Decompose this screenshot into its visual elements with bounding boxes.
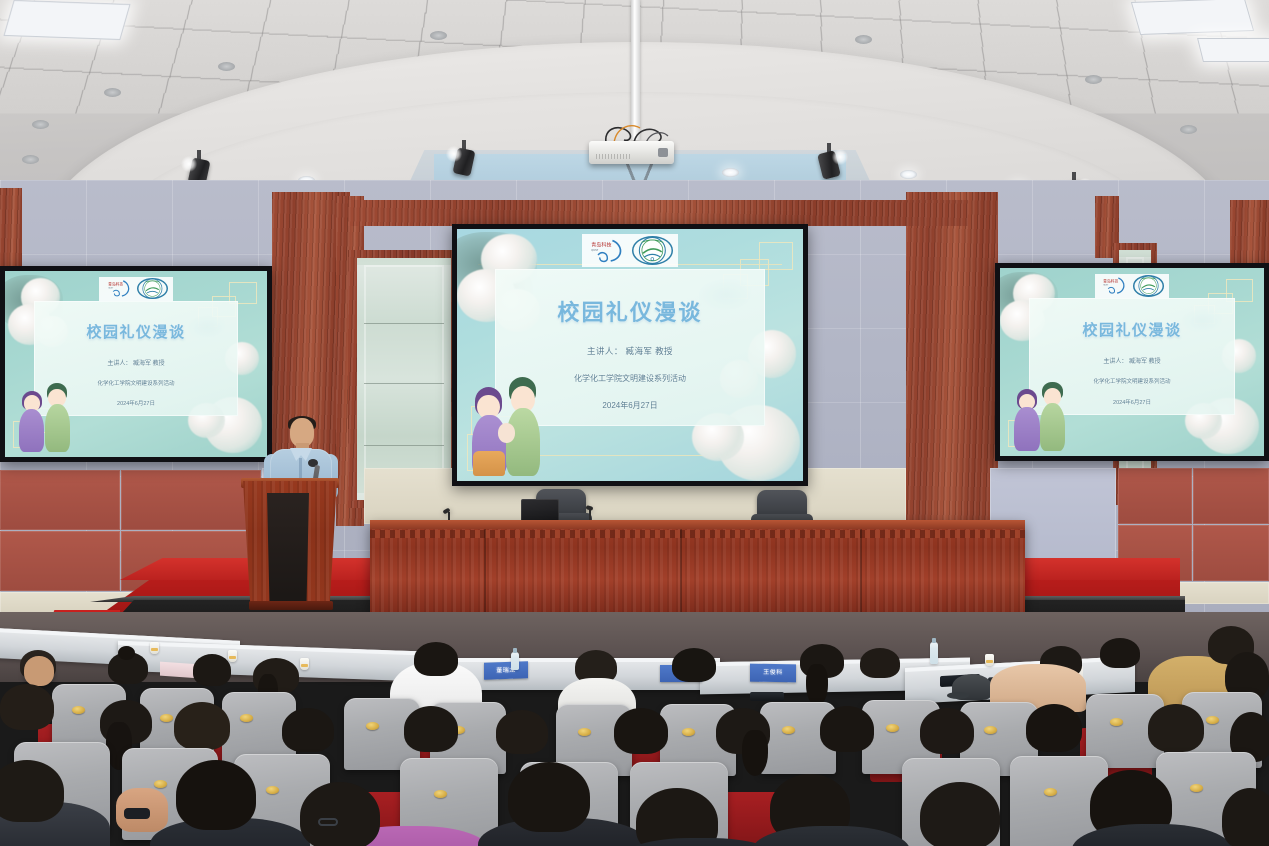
spotlight-glow [446,146,462,162]
audience-area: 董瑞龙 李 王俊科 [0,612,1269,846]
university-emblem-logo: 青岛科技 QUST [104,279,135,298]
acoustic-panel [0,470,120,530]
slide-speaker-line: 主讲人： 臧海军 教授 [1000,356,1264,365]
seat-number-badge [782,726,795,734]
audience-head [920,782,1000,846]
downlight-icon [430,31,447,40]
table-trim [370,530,1025,538]
audience-head [1026,704,1082,752]
downlight-icon [900,170,917,179]
audience-head [404,706,458,752]
downlight-icon [218,62,235,71]
children-illustration [1013,377,1076,452]
ponytail [806,664,828,706]
children-illustration [471,373,554,479]
seat-number-badge [578,728,591,736]
audience-head [1100,638,1140,668]
civilization-campaign-seal-logo [137,278,168,299]
water-bottle[interactable] [511,652,519,670]
frosted-glass-door[interactable] [357,258,451,500]
audience-head [0,760,64,822]
ceiling-mounted-projector [589,141,674,164]
presidium-table [370,520,1025,612]
wood-wall-panel [906,192,998,522]
university-emblem-logo: 青岛科技 QUST [1099,276,1130,295]
slide-logos: 青岛科技 QUST [99,277,172,301]
audience-head [300,782,380,846]
table-top [370,520,1025,529]
spotlight-glow [181,156,197,172]
audience-head [282,708,334,752]
paper-cup[interactable] [985,654,994,666]
downlight-icon [32,120,49,129]
audience-head [860,648,900,678]
downlight-icon [855,35,872,44]
projector-lens-icon [658,148,668,157]
audience-head [176,760,256,830]
downlight-icon [722,168,739,177]
slide-speaker-line: 主讲人： 臧海军 教授 [457,345,803,357]
seat-number-badge [434,790,447,798]
lectern-front-panel [267,493,309,605]
slide-title: 校园礼仪漫谈 [1000,319,1264,340]
slide-surface: 青岛科技 QUST 校园礼仪漫谈 主讲人： [457,229,803,481]
seat-number-badge [1110,718,1123,726]
wristwatch [124,808,150,819]
seat-number-badge [366,722,379,730]
audience-head [820,706,874,752]
slide-title: 校园礼仪漫谈 [5,321,267,342]
downlight-icon [22,155,39,164]
audience-head [0,684,54,730]
left-side-projection-screen[interactable]: 青岛科技 QUST 校园礼仪漫谈 主讲人： 臧海军 教授 [0,266,272,462]
audience-head [672,648,716,682]
civilization-campaign-seal-logo [632,236,673,265]
water-bottle[interactable] [930,642,938,664]
svg-text:青岛科技: 青岛科技 [1104,279,1119,284]
audience-head [1148,704,1204,752]
audience-head [414,642,458,676]
ceiling-light-panel [1131,0,1254,35]
right-side-projection-screen[interactable]: 青岛科技 QUST 校园礼仪漫谈 主讲人： 臧海军 教授 [995,263,1269,461]
acoustic-panel [1193,468,1269,524]
wood-header-beam [348,200,968,226]
audience-head [508,762,590,832]
slide-surface: 青岛科技 QUST 校园礼仪漫谈 主讲人： 臧海军 教授 [5,271,267,457]
projector-vent [596,154,630,159]
ceiling-light-panel [3,0,130,40]
ponytail [742,730,768,776]
nameplate-left: 董瑞龙 [484,661,528,680]
downlight-icon [1180,125,1197,134]
main-center-projection-screen[interactable]: 青岛科技 QUST 校园礼仪漫谈 主讲人： [452,224,808,486]
seat-number-badge [682,728,695,736]
nameplate-right: 王俊科 [750,664,796,683]
children-illustration [18,379,81,453]
seat-number-badge [160,714,173,722]
paper-cup[interactable] [150,642,159,654]
seat-number-badge [72,706,85,714]
acoustic-panel [1193,525,1269,581]
seat-number-badge [1044,788,1057,796]
university-emblem-logo: 青岛科技 QUST [587,238,628,264]
seat-number-badge [240,714,253,722]
lectern-base [249,601,333,610]
audience-head [920,708,974,754]
svg-text:QUST: QUST [108,288,114,290]
acoustic-panel [0,531,120,591]
slide-logos: 青岛科技 QUST [582,234,679,267]
audience-head [24,656,54,686]
svg-text:QUST: QUST [1104,285,1110,287]
spotlight-glow [832,149,848,165]
seat-number-badge [1206,716,1219,724]
hair-bun [118,646,135,660]
downlight-icon [1085,75,1102,84]
lecture-hall-photo: 青岛科技 QUST 校园礼仪漫谈 主讲人： 臧海军 教授 [0,0,1269,846]
eyeglasses [318,818,338,826]
ceiling-light-panel [1197,38,1269,62]
paper-cup[interactable] [228,650,237,662]
audience-head [174,702,230,750]
baseball-cap [952,674,992,700]
slide-surface: 青岛科技 QUST 校园礼仪漫谈 主讲人： 臧海军 教授 [1000,268,1264,456]
seat-number-badge [266,786,279,794]
audience-head [614,708,668,754]
audience-head [1222,788,1269,846]
svg-text:QUST: QUST [592,247,599,251]
seat-number-badge [1190,784,1203,792]
svg-text:青岛科技: 青岛科技 [108,282,123,287]
downlight-icon [104,88,121,97]
audience-head [496,710,548,754]
paper-cup[interactable] [300,658,309,670]
seat-number-badge [984,726,997,734]
seat-number-badge [154,780,167,788]
acoustic-panel [121,470,261,530]
audience-head [193,654,231,686]
slide-title: 校园礼仪漫谈 [457,295,803,327]
svg-text:青岛科技: 青岛科技 [592,241,612,248]
mobile-phone[interactable] [750,692,784,701]
slide-logos: 青岛科技 QUST [1095,274,1169,298]
acoustic-panel [1118,468,1192,524]
slide-speaker-line: 主讲人： 臧海军 教授 [5,358,267,367]
seat-number-badge [886,724,899,732]
civilization-campaign-seal-logo [1133,275,1164,297]
